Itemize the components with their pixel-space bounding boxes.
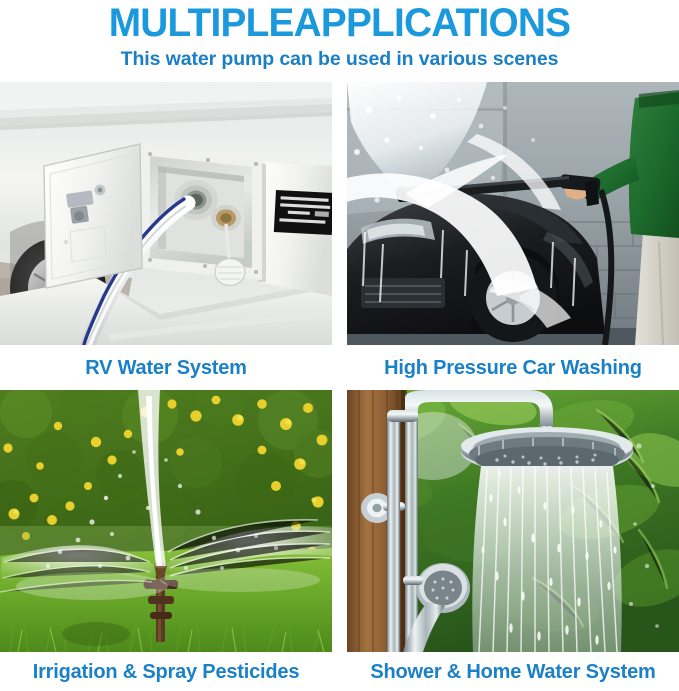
caption-irrigation-spray-pesticides: Irrigation & Spray Pesticides [0,652,332,691]
applications-grid: RV Water System [0,82,679,691]
caption-high-pressure-car-washing: High Pressure Car Washing [347,345,679,390]
caption-shower-home-water-system: Shower & Home Water System [347,652,679,691]
caption-label: Irrigation & Spray Pesticides [33,660,300,684]
caption-rv-water-system: RV Water System [0,345,332,390]
page-subtitle: This water pump can be used in various s… [0,46,679,72]
irrigation-illustration [0,390,332,652]
rv-access-door[interactable] [44,144,142,288]
rv-water-system-illustration [0,82,332,345]
photo-rv-water-system [0,82,332,345]
page-title: MULTIPLEAPPLICATIONS [10,2,669,44]
photo-high-pressure-car-washing [347,82,679,345]
rv-electrical-label [274,190,332,235]
shower-illustration [347,390,679,652]
caption-label: Shower & Home Water System [370,660,655,684]
photo-irrigation-spray-pesticides [0,390,332,652]
header: MULTIPLEAPPLICATIONS This water pump can… [0,0,679,72]
car-washing-illustration [347,82,679,345]
caption-label: High Pressure Car Washing [384,356,642,380]
application-showcase-page: MULTIPLEAPPLICATIONS This water pump can… [0,0,679,691]
caption-label: RV Water System [85,356,247,380]
photo-shower-home-water-system [347,390,679,652]
